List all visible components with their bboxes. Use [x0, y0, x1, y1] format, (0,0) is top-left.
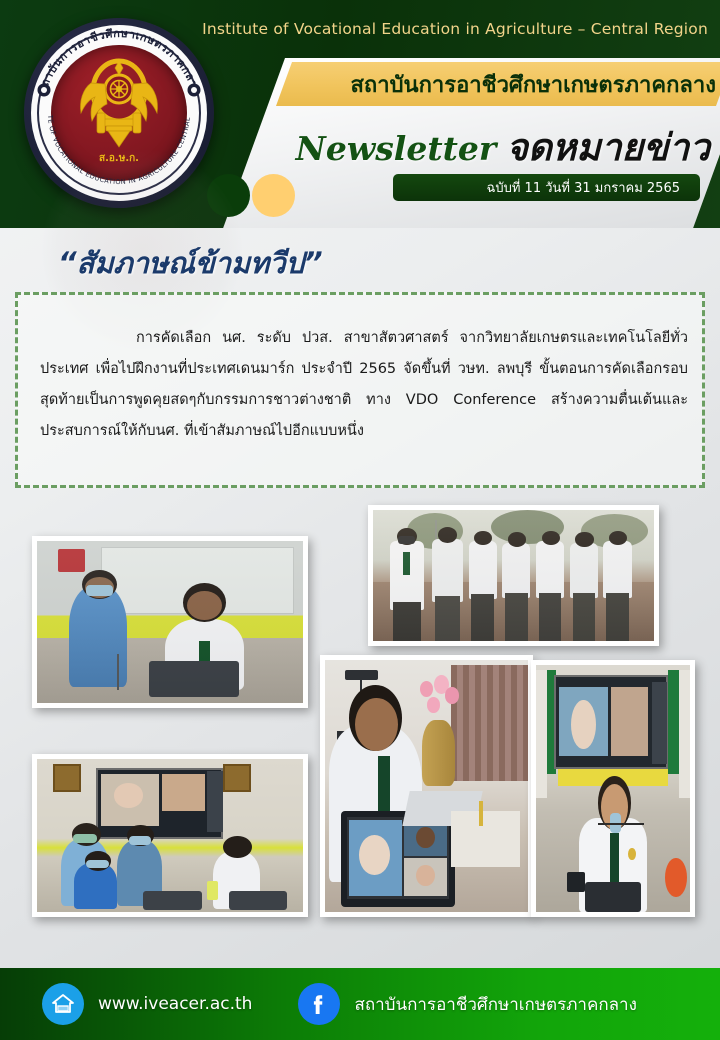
newsletter-title-th: จดหมายข่าว: [506, 118, 710, 177]
english-org-title: Institute of Vocational Education in Agr…: [202, 20, 708, 38]
gold-band: สถาบันการอาชีวศึกษาเกษตรภาคกลาง: [276, 62, 720, 106]
logo-side-gears: [32, 78, 206, 148]
thai-org-name: สถาบันการอาชีวศึกษาเกษตรภาคกลาง: [350, 67, 716, 102]
article-headline: “สัมภาษณ์ข้ามทวีป”: [58, 240, 323, 286]
photo-group-in-front-of-screen: [32, 754, 308, 917]
decor-circle-gold: [252, 174, 295, 217]
page-footer: www.iveacer.ac.th สถาบันการอาชีวศึกษาเกษ…: [0, 968, 720, 1040]
footer-facebook-item[interactable]: สถาบันการอาชีวศึกษาเกษตรภาคกลาง: [298, 983, 636, 1025]
newsletter-title-en: Newsletter: [296, 129, 497, 168]
photo-presenter-at-podium: [32, 536, 308, 708]
newsletter-title-row: Newsletter จดหมายข่าว: [296, 118, 710, 177]
photo-students-lineup-outdoors: [368, 505, 659, 646]
issue-date-badge: ฉบับที่ 11 วันที่ 31 มกราคม 2565: [393, 174, 700, 201]
footer-website-text[interactable]: www.iveacer.ac.th: [98, 994, 252, 1014]
home-icon[interactable]: [42, 983, 84, 1025]
facebook-icon[interactable]: [298, 983, 340, 1025]
photo-student-video-interview: [320, 655, 533, 917]
article-body-text: การคัดเลือก นศ. ระดับ ปวส. สาขาสัตวศาสตร…: [40, 323, 688, 447]
photo-student-smiling-on-stage: [531, 660, 695, 917]
footer-facebook-text[interactable]: สถาบันการอาชีวศึกษาเกษตรภาคกลาง: [354, 991, 636, 1018]
article-body-box: การคัดเลือก นศ. ระดับ ปวส. สาขาสัตวศาสตร…: [15, 292, 705, 488]
newsletter-page: สถาบันการอาชีวศึกษาเกษตรภาคกลาง Institut…: [0, 0, 720, 1040]
footer-website-item[interactable]: www.iveacer.ac.th: [42, 983, 252, 1025]
issue-date-text: ฉบับที่ 11 วันที่ 31 มกราคม 2565: [486, 177, 680, 198]
